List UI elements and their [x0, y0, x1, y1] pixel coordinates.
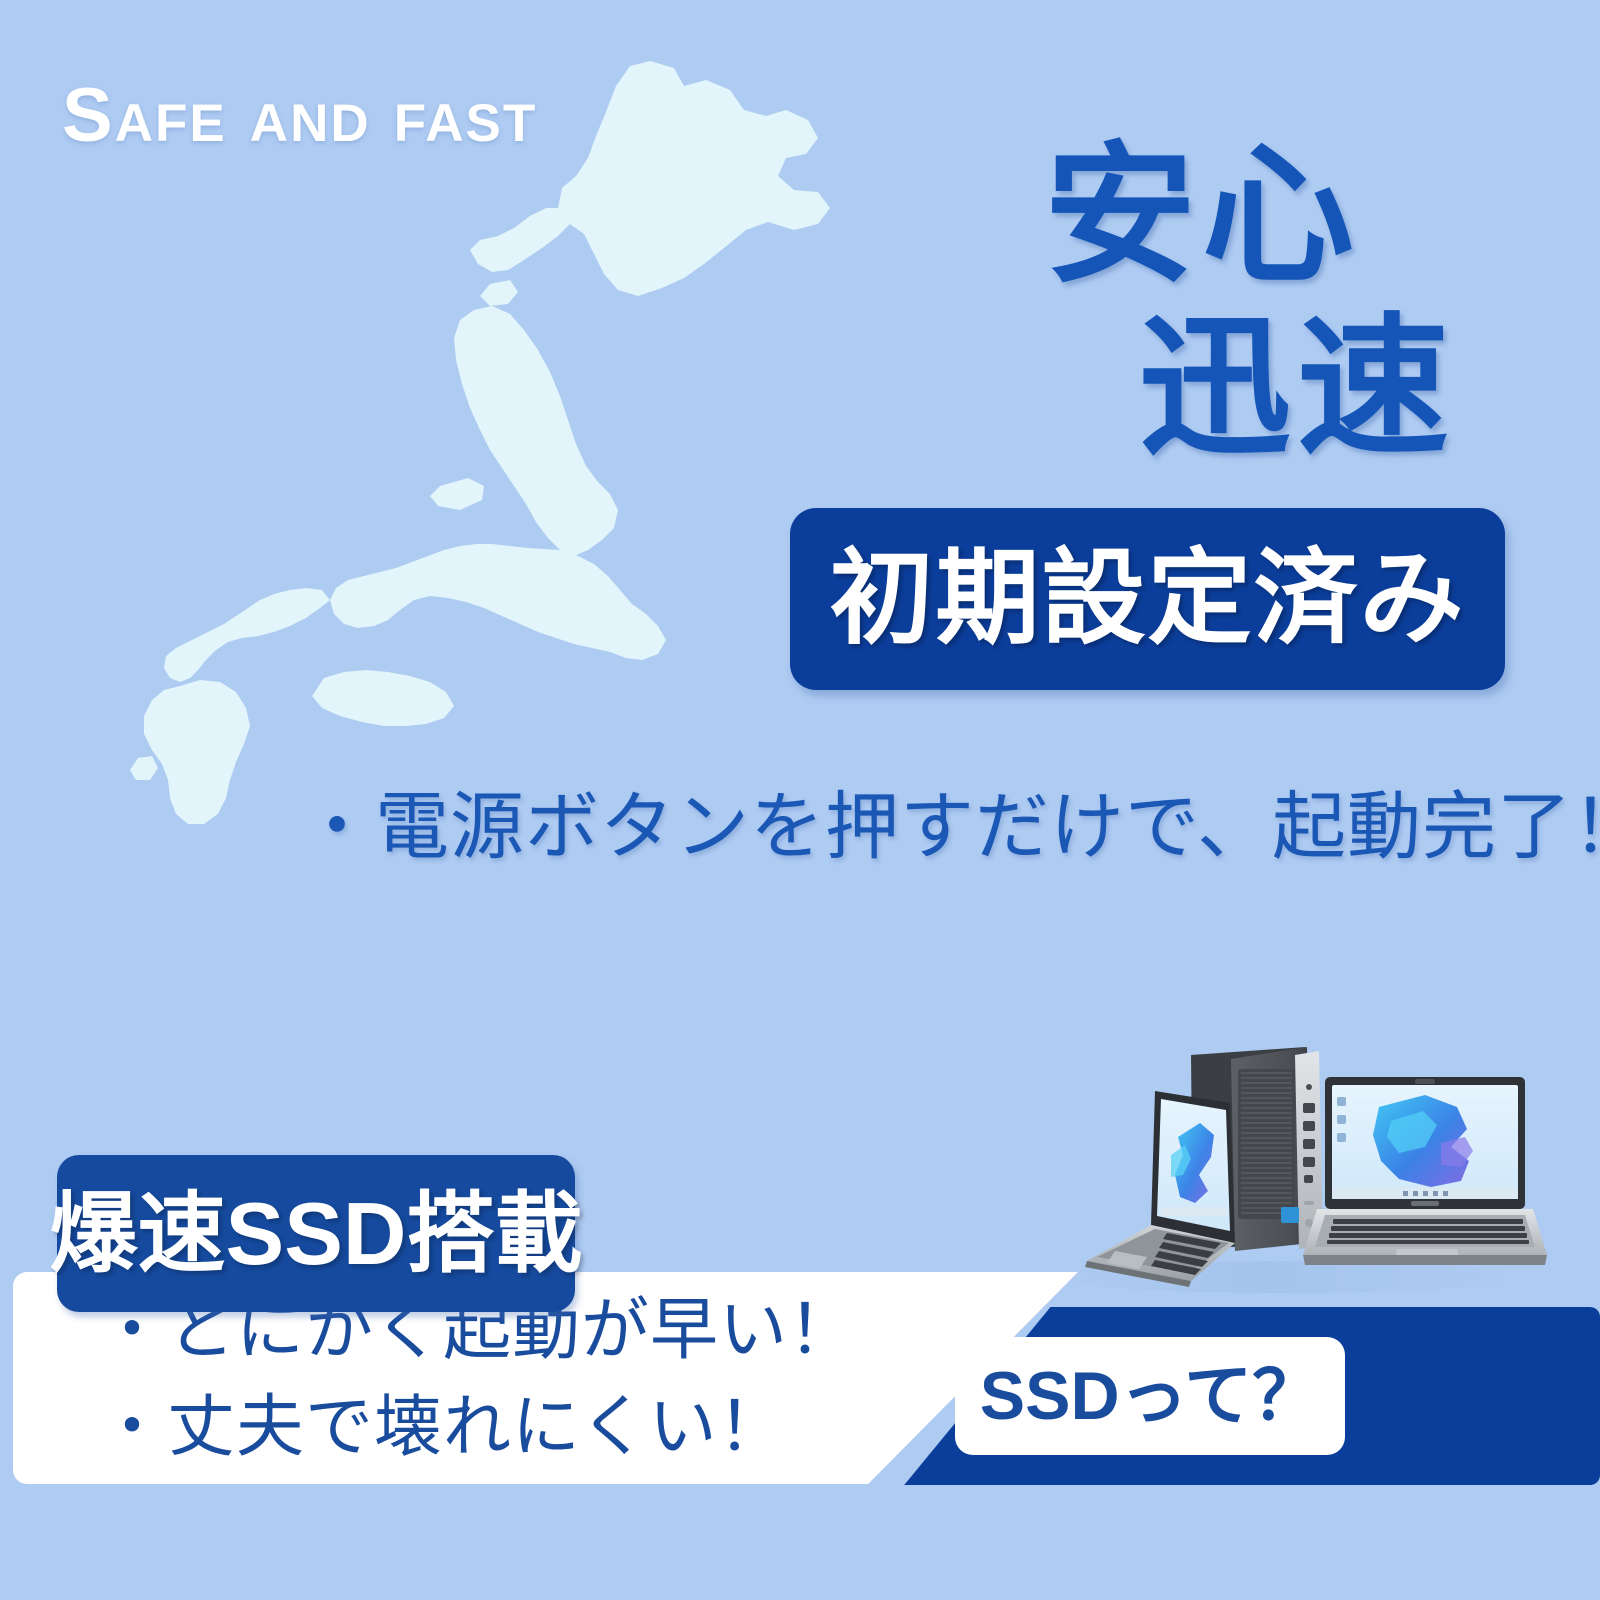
ssd-question-chip: SSDって？	[955, 1337, 1345, 1455]
setup-done-badge: 初期設定済み	[790, 508, 1505, 690]
headline-anshin: 安心	[1044, 140, 1360, 292]
setup-done-badge-label: 初期設定済み	[829, 547, 1465, 651]
list-item: ・丈夫で壊れにくい！	[98, 1379, 898, 1476]
headline-jinsoku: 迅速	[1139, 312, 1455, 464]
poster-canvas: Safe and fast 安心 迅速 初期設定済み ・電源ボタンを押すだけで、…	[0, 0, 1600, 1600]
ssd-question-label: SSDって？	[980, 1362, 1320, 1430]
japan-map-icon	[118, 58, 858, 838]
fast-ssd-badge: 爆速SSD搭載	[57, 1155, 575, 1312]
computers-photo	[995, 1025, 1555, 1305]
power-button-bullet: ・電源ボタンを押すだけで、起動完了！	[300, 786, 1600, 867]
fast-ssd-badge-label: 爆速SSD搭載	[50, 1190, 583, 1278]
eyebrow-text: Safe and fast	[62, 78, 537, 154]
